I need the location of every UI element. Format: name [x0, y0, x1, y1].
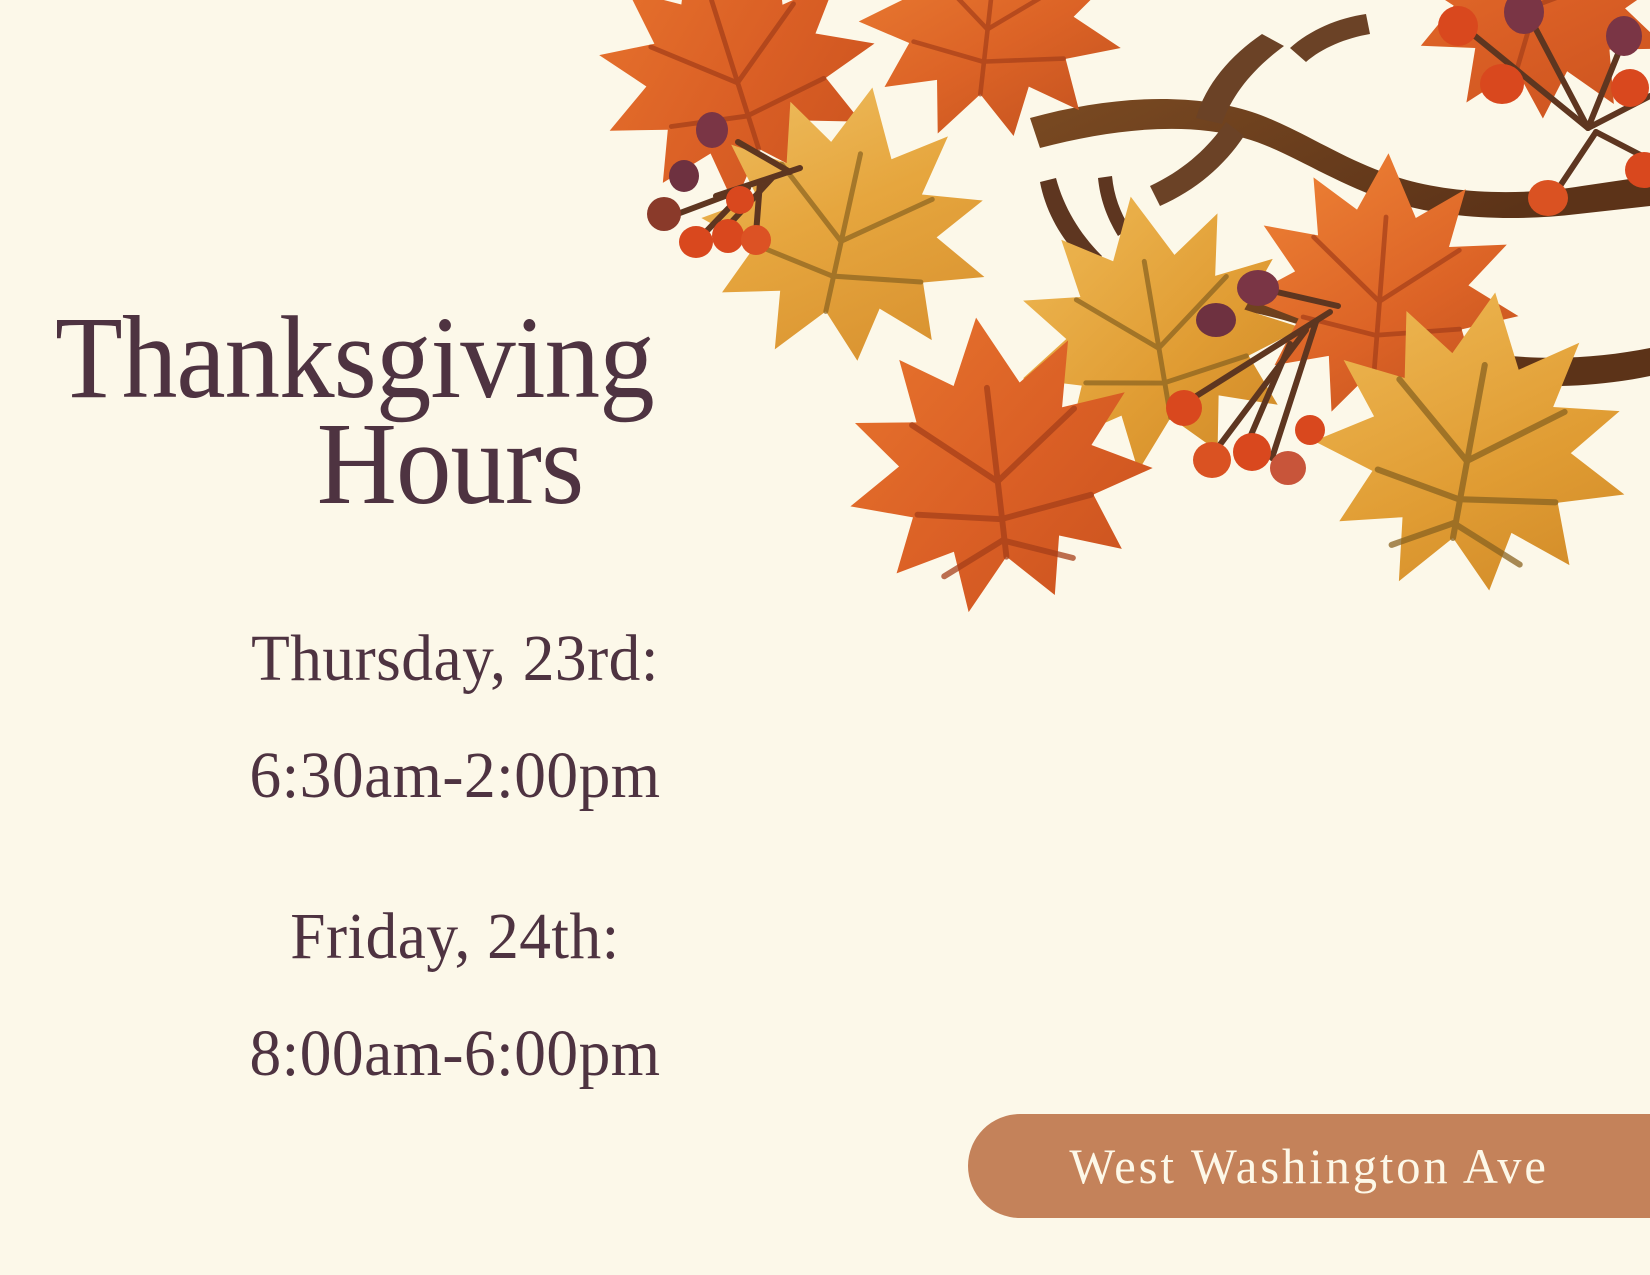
schedule-day-label: Friday, 24th: — [119, 878, 791, 995]
schedule-entry-friday: Friday, 24th: 8:00am-6:00pm — [105, 878, 805, 1113]
page-title: Thanksgiving Hours — [55, 305, 845, 517]
berries — [647, 112, 771, 258]
location-banner: West Washington Ave — [968, 1114, 1650, 1218]
location-banner-label: West Washington Ave — [1069, 1137, 1548, 1195]
branch-group — [1030, 14, 1650, 386]
title-line-1: Thanksgiving — [55, 305, 798, 411]
schedule-time-label: 8:00am-6:00pm — [119, 995, 791, 1112]
schedule-entry-thursday: Thursday, 23rd: 6:30am-2:00pm — [105, 600, 805, 835]
thanksgiving-hours-poster: Thanksgiving Hours Thursday, 23rd: 6:30a… — [0, 0, 1650, 1275]
schedule-time-label: 6:30am-2:00pm — [119, 717, 791, 834]
title-line-2: Hours — [79, 411, 822, 517]
schedule-day-label: Thursday, 23rd: — [119, 600, 791, 717]
